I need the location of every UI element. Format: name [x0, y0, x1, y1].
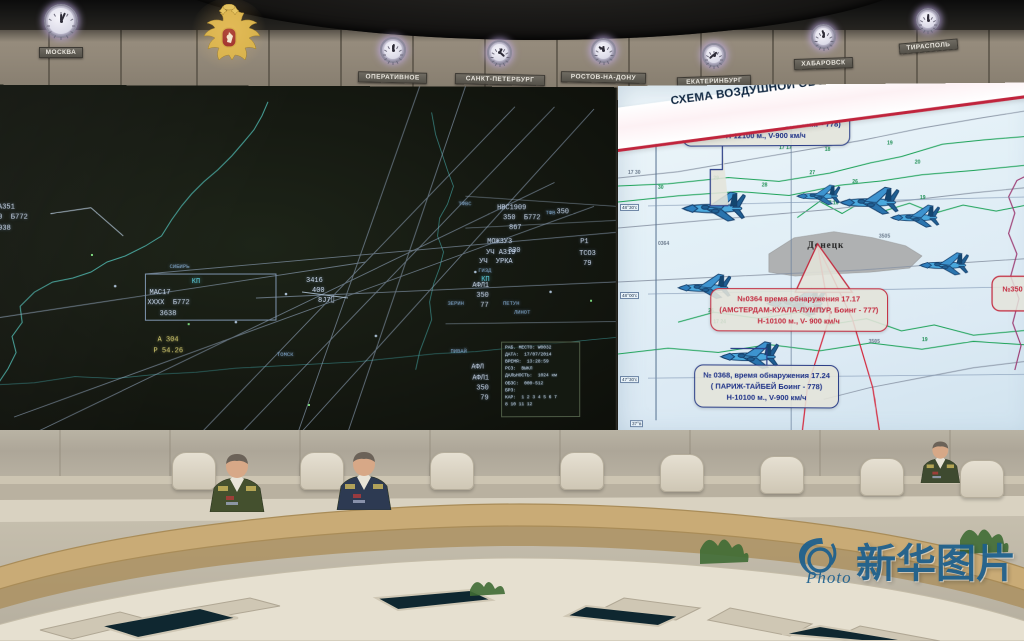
city-clock-label-хабаровск: ХАБАРОВСК	[794, 57, 853, 70]
command-centre-photo: МОСКВАОПЕРАТИВНОЕСАНКТ-ПЕТЕРБУРГРОСТОВ-Н…	[0, 0, 1024, 641]
radar-label-3: КП	[192, 278, 200, 287]
office-chair-5[interactable]	[760, 456, 804, 494]
clock-face	[920, 12, 936, 28]
radar-label-38: ГИЗД	[478, 267, 491, 274]
radar-label-9: 3416	[306, 277, 323, 286]
radar-label-12: НВС1909	[497, 204, 526, 213]
track-mark-8: 27	[809, 170, 815, 176]
aircraft-icon-5	[918, 251, 969, 281]
clock-face	[815, 28, 832, 45]
aircraft-icon-4	[889, 203, 940, 233]
city-clock-label-ростов-на-дону: РОСТОВ-НА-ДОНУ	[561, 71, 646, 84]
track-mark-4: 20	[915, 160, 921, 166]
radar-label-36: ПИВАЙ	[450, 348, 466, 355]
clock-centre-pin	[392, 49, 395, 52]
magenta-route	[1009, 170, 1024, 370]
office-chair-7[interactable]	[960, 460, 1004, 498]
clock-centre-pin	[602, 49, 605, 52]
radar-label-2: 3938	[0, 225, 11, 235]
clock-face	[48, 8, 74, 34]
xinhua-chinese-text: 新华图片	[856, 531, 1016, 589]
ceiling	[0, 0, 1024, 30]
donetsk-region-shape	[769, 232, 922, 277]
xinhua-photo-watermark: Photo 新华图片	[792, 531, 1016, 589]
radar-display-screen[interactable]: А35150 Б7723938КПМАС17ХХХХ Б7723638А 304…	[0, 85, 618, 440]
office-chair-6[interactable]	[860, 458, 904, 496]
clock-face	[384, 41, 402, 59]
radar-label-1: 50 Б772	[0, 214, 28, 224]
radar-label-11: 8J7⌷	[318, 297, 335, 306]
radar-label-6: 3638	[160, 310, 177, 319]
track-mark-12: 3505	[879, 234, 890, 240]
city-clock-label-москва: МОСКВА	[39, 47, 82, 58]
track-mark-20: 19	[922, 337, 928, 343]
donetsk-city-label: Донецк	[807, 240, 844, 250]
track-mark-13: 19	[920, 195, 926, 201]
wall-clock-1	[380, 37, 406, 63]
aircraft-icon-0	[680, 190, 745, 229]
radar-label-28: 77	[480, 302, 488, 311]
photo-logo-icon: Photo	[792, 534, 850, 586]
wall-clock-0	[44, 4, 78, 38]
clock-centre-pin	[927, 19, 930, 22]
radar-label-37: ПЕТУН	[503, 300, 519, 307]
callout-line-0: № 0368, время обнаружения 17.24	[703, 369, 830, 381]
track-mark-3: 19	[887, 140, 893, 146]
radar-label-10: 400	[312, 287, 325, 296]
radar-label-5: ХХХХ Б772	[147, 299, 189, 309]
callout-350-frame	[992, 276, 1024, 311]
callout-line-2: Н-10100 м., V-900 км/ч	[703, 392, 830, 404]
river-teal-2	[416, 112, 454, 369]
clock-face	[491, 44, 508, 61]
radar-label-8: Р 54.26	[153, 347, 183, 357]
radar-label-13: 350 Б772	[503, 214, 540, 223]
radar-label-30: 350	[476, 384, 489, 393]
office-chair-4[interactable]	[660, 454, 704, 492]
map-coord-label-3: 47°30'с	[620, 376, 639, 383]
radar-label-18: МОЖ3У3	[487, 238, 512, 247]
wall-clock-6	[916, 8, 940, 32]
status-row-8: 8 10 11 12	[505, 401, 576, 408]
radar-label-4: МАС17	[149, 289, 170, 298]
track-mark-11: 0364	[658, 241, 669, 247]
radar-label-21: ТСО3	[579, 250, 596, 259]
office-chair-3[interactable]	[560, 452, 604, 490]
radar-label-14: 867	[509, 224, 521, 233]
coat-of-arms-glow	[190, 0, 268, 72]
clock-centre-pin	[498, 51, 501, 54]
russian-coat-of-arms-icon	[196, 4, 262, 66]
radar-status-block-1: РАБ. МЕСТО: W0032ДАТА: 17/07/2014ВРЕМЯ: …	[501, 341, 580, 417]
coastline-teal	[0, 101, 268, 387]
track-mark-6: 29	[713, 176, 719, 182]
city-clock-label-санкт-петербург: САНКТ-ПЕТЕРБУРГ	[454, 73, 544, 86]
wall-clock-4	[702, 43, 726, 67]
callout-line-2: Н-10100 м., V- 900 км/ч	[719, 315, 878, 327]
wall-clock-3	[591, 38, 616, 63]
radar-label-34: ТОМСК	[277, 351, 294, 358]
wall-clock-5	[811, 24, 836, 49]
projection-screen[interactable]: Донецк №350 37°в48°30'с48°00'с47°30'с37°…	[618, 82, 1024, 441]
map-coord-label-4: 37°в	[630, 420, 643, 427]
officer-army	[206, 452, 268, 517]
track-mark-7: 28	[762, 182, 768, 188]
radar-label-7: А 304	[158, 336, 179, 346]
city-clock-label-оперативное: ОПЕРАТИВНОЕ	[358, 71, 427, 83]
map-coord-label-2: 48°00'с	[620, 292, 639, 299]
radar-label-29: АФЛ1	[472, 375, 489, 384]
radar-label-26: АФЛ1	[472, 282, 489, 291]
track-mark-19: 3505	[869, 339, 880, 345]
map-coord-label-1: 48°30'с	[620, 204, 639, 211]
officer-right	[918, 440, 963, 488]
radar-label-0: А351	[0, 204, 15, 214]
radar-label-31: 79	[480, 394, 488, 403]
clock-face	[706, 47, 722, 63]
clock-face	[595, 42, 612, 59]
radar-label-17: Р1	[580, 238, 588, 247]
track-mark-5: 17 30	[628, 170, 641, 176]
track-mark-2: 18	[825, 147, 831, 153]
track-mark-10: 30	[658, 185, 664, 191]
radar-label-15: 350	[556, 208, 568, 217]
callout-line-1: (АМСТЕРДАМ-КУАЛА-ЛУМПУР, Боинг - 777)	[719, 304, 878, 316]
radar-label-23: ТФВС	[458, 200, 471, 207]
radar-label-39: ЛИНОТ	[514, 309, 530, 316]
radar-label-24: ТФВ	[546, 209, 556, 216]
wall-clock-2	[487, 40, 512, 65]
radar-label-35: ЗЕРИН	[448, 300, 464, 307]
callout-flight-0368[interactable]: № 0368, время обнаружения 17.24( ПАРИЖ-Т…	[694, 364, 839, 408]
radar-label-32: АФЛ	[471, 364, 484, 373]
clock-centre-pin	[60, 20, 63, 23]
officer-navy	[333, 450, 395, 515]
callout-350-label: №350	[1002, 286, 1022, 293]
radar-label-27: 350	[476, 292, 489, 301]
radar-label-22: 79	[583, 260, 591, 269]
photo-script-text: Photo	[806, 568, 852, 588]
clock-centre-pin	[713, 54, 716, 57]
clock-centre-pin	[822, 35, 825, 38]
radar-label-33: СИБИРЬ	[170, 263, 190, 270]
office-chair-2[interactable]	[430, 452, 474, 490]
aircraft-icon-7	[795, 183, 840, 210]
callout-flight-0364-mh17[interactable]: №0364 время обнаружения 17.17(АМСТЕРДАМ-…	[710, 288, 887, 332]
callout-line-1: ( ПАРИЖ-ТАЙБЕЙ Боинг - 778)	[703, 381, 830, 393]
callout-line-0: №0364 время обнаружения 17.17	[719, 293, 878, 304]
